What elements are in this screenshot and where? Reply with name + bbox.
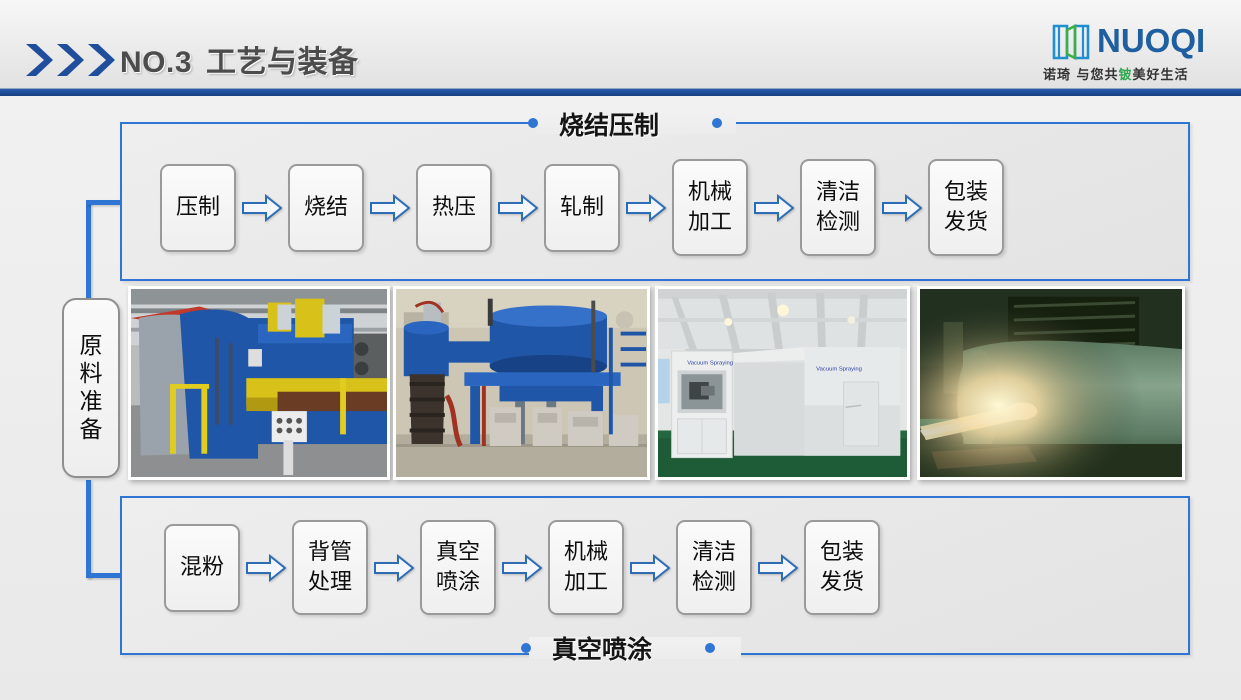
- process-node-label: 压制: [176, 193, 220, 223]
- raw-material-char: 备: [80, 416, 103, 444]
- logo-tagline-right: 美好生活: [1133, 68, 1189, 83]
- chevron-right-icon: [24, 42, 54, 78]
- nuoqi-book-mark-icon: [1051, 22, 1091, 62]
- raw-material-char: 料: [80, 360, 103, 388]
- page-title: NO.3工艺与装备: [120, 37, 359, 81]
- flow-title-vacuum-spraying: 真空喷涂: [552, 630, 652, 666]
- process-node[interactable]: 烧结: [288, 164, 364, 252]
- band-dot-right-top: [712, 118, 722, 128]
- brand-logo: NUOQI 诺琦 与您共铍美好生活: [1023, 20, 1223, 86]
- process-node-label: 检测: [692, 568, 736, 598]
- connector-raw-to-top-vertical: [86, 200, 91, 298]
- section-number: NO.3: [120, 46, 192, 79]
- process-node[interactable]: 清洁 检测: [800, 159, 876, 256]
- process-node-label: 检测: [816, 208, 860, 238]
- raw-material-char: 准: [80, 388, 103, 416]
- process-node-label: 轧制: [560, 193, 604, 223]
- process-node[interactable]: 混粉: [164, 524, 240, 612]
- section-title-cn: 工艺与装备: [206, 45, 359, 80]
- block-arrow-right-icon: [364, 191, 416, 225]
- process-node[interactable]: 轧制: [544, 164, 620, 252]
- process-node-label: 清洁: [816, 178, 860, 208]
- connector-raw-to-bottom-horizontal: [86, 573, 122, 578]
- process-node[interactable]: 真空 喷涂: [420, 520, 496, 615]
- band-dot-left-bottom: [521, 643, 531, 653]
- process-node-label: 加工: [688, 208, 732, 238]
- connector-raw-to-bottom-vertical: [86, 480, 91, 578]
- process-node-label: 发货: [944, 208, 988, 238]
- svg-text:Vacuum Spraying: Vacuum Spraying: [816, 366, 862, 372]
- process-row-sintering-press: 压制 烧结 热压 轧制 机械 加工 清洁: [160, 160, 1004, 255]
- block-arrow-right-icon: [492, 191, 544, 225]
- process-row-vacuum-spraying: 混粉 背管 处理 真空 喷涂 机械 加工 清洁 检测: [164, 520, 880, 615]
- flow-title-sintering-press: 烧结压制: [559, 106, 659, 142]
- process-node-label: 机械: [564, 538, 608, 568]
- block-arrow-right-icon: [236, 191, 288, 225]
- block-arrow-right-icon: [624, 551, 676, 585]
- chevron-group-icon: [24, 42, 122, 78]
- block-arrow-right-icon: [752, 551, 804, 585]
- process-node[interactable]: 热压: [416, 164, 492, 252]
- logo-wordmark: NUOQI: [1097, 22, 1205, 60]
- band-dot-right-bottom: [705, 643, 715, 653]
- process-node-label: 包装: [820, 538, 864, 568]
- slide-canvas: NO.3工艺与装备 NUOQI 诺琦 与您共铍美好生活: [0, 0, 1241, 700]
- process-node-label: 包装: [944, 178, 988, 208]
- chevron-right-icon: [55, 42, 85, 78]
- svg-text:Vacuum Spraying: Vacuum Spraying: [687, 361, 733, 367]
- process-node-label: 发货: [820, 568, 864, 598]
- process-node[interactable]: 背管 处理: [292, 520, 368, 615]
- header-divider: [0, 88, 1241, 96]
- process-node[interactable]: 机械 加工: [548, 520, 624, 615]
- slide-header: NO.3工艺与装备 NUOQI 诺琦 与您共铍美好生活: [0, 0, 1241, 96]
- process-node-label: 烧结: [304, 193, 348, 223]
- process-node-label: 背管: [308, 538, 352, 568]
- raw-material-char: 原: [80, 332, 103, 360]
- block-arrow-right-icon: [620, 191, 672, 225]
- block-arrow-right-icon: [876, 191, 928, 225]
- photo-hot-press: [128, 286, 390, 480]
- photo-vacuum-furnace: [393, 286, 650, 480]
- logo-tagline: 诺琦 与您共铍美好生活: [1043, 64, 1189, 83]
- photo-target-spray: [917, 286, 1185, 480]
- process-node-label: 喷涂: [436, 568, 480, 598]
- process-node-label: 清洁: [692, 538, 736, 568]
- logo-tagline-left: 诺琦 与您共: [1043, 68, 1119, 83]
- block-arrow-right-icon: [496, 551, 548, 585]
- process-node[interactable]: 清洁 检测: [676, 520, 752, 615]
- process-node-label: 处理: [308, 568, 352, 598]
- process-node-label: 机械: [688, 178, 732, 208]
- process-node[interactable]: 包装 发货: [804, 520, 880, 615]
- chevron-right-icon: [86, 42, 116, 78]
- raw-material-node[interactable]: 原 料 准 备: [62, 298, 120, 478]
- process-node-label: 热压: [432, 193, 476, 223]
- connector-raw-to-top-horizontal: [86, 200, 122, 205]
- process-node[interactable]: 机械 加工: [672, 159, 748, 256]
- process-node-label: 加工: [564, 568, 608, 598]
- process-node-label: 混粉: [180, 553, 224, 583]
- photo-vacuum-spraying-room: Vacuum Spraying Vacuum Spraying: [655, 286, 910, 480]
- block-arrow-right-icon: [240, 551, 292, 585]
- process-node[interactable]: 压制: [160, 164, 236, 252]
- process-node[interactable]: 包装 发货: [928, 159, 1004, 256]
- process-node-label: 真空: [436, 538, 480, 568]
- logo-tagline-accent: 铍: [1119, 68, 1133, 83]
- block-arrow-right-icon: [748, 191, 800, 225]
- block-arrow-right-icon: [368, 551, 420, 585]
- band-dot-left-top: [528, 118, 538, 128]
